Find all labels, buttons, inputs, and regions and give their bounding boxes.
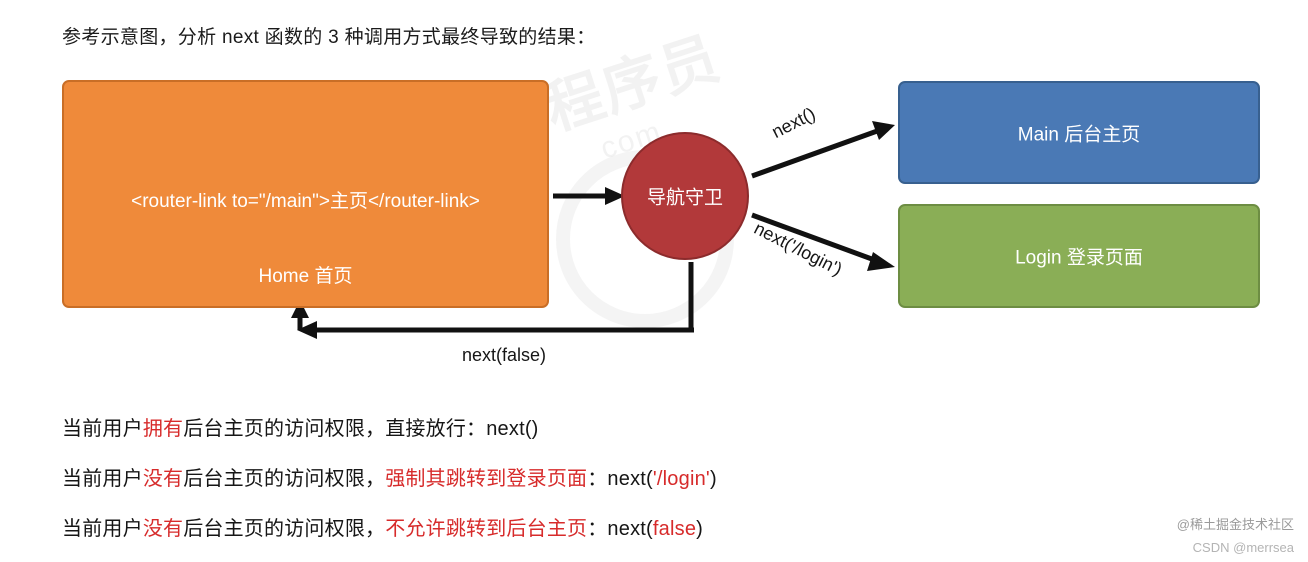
home-box-caption: Home 首页 [64, 261, 547, 288]
explanation-segment: ：next( [587, 518, 653, 540]
explanation-segment: 后台主页的访问权限， [183, 468, 385, 490]
explanation-segment: 当前用户 [62, 418, 143, 440]
explanation-segment: ：next( [587, 468, 653, 490]
explanation-segment: 当前用户 [62, 518, 143, 540]
main-box: Main 后台主页 [898, 81, 1260, 184]
arrow-label-next-false: next(false) [462, 345, 546, 366]
main-box-label: Main 后台主页 [900, 119, 1258, 146]
explanation-line: 当前用户拥有后台主页的访问权限，直接放行：next() [62, 412, 1212, 441]
explanation-segment: ) [710, 468, 717, 490]
arrow-label-next-login: next('/login') [750, 218, 845, 280]
explanation-line: 当前用户没有后台主页的访问权限，不允许跳转到后台主页：next(false) [62, 512, 1212, 541]
explanation-segment: 当前用户 [62, 468, 143, 490]
explanation-segment: 后台主页的访问权限，直接放行：next() [183, 418, 538, 440]
login-box-label: Login 登录页面 [900, 243, 1258, 270]
home-box-code: <router-link to="/main">主页</router-link> [64, 186, 547, 213]
explanation-segment: false [653, 518, 696, 540]
navigation-guard-node: 导航守卫 [621, 132, 749, 260]
explanation-segment: 拥有 [143, 418, 183, 440]
explanation-segment: 没有 [143, 518, 183, 540]
navigation-guard-label: 导航守卫 [623, 183, 747, 210]
explanation-segment: 不允许跳转到后台主页 [385, 518, 587, 540]
watermark-big-line2: com [597, 45, 883, 167]
explanation-segment: ) [696, 518, 703, 540]
arrow-label-next: next() [768, 103, 819, 143]
explanation-list: 当前用户拥有后台主页的访问权限，直接放行：next() 当前用户没有后台主页的访… [62, 412, 1212, 562]
explanation-segment: 后台主页的访问权限， [183, 518, 385, 540]
explanation-segment: 强制其跳转到登录页面 [385, 468, 587, 490]
explanation-segment: '/login' [653, 468, 710, 490]
login-box: Login 登录页面 [898, 204, 1260, 308]
explanation-line: 当前用户没有后台主页的访问权限，强制其跳转到登录页面：next('/login'… [62, 462, 1212, 491]
home-box: <router-link to="/main">主页</router-link>… [62, 80, 549, 308]
page-title: 参考示意图，分析 next 函数的 3 种调用方式最终导致的结果： [62, 22, 596, 49]
explanation-segment: 没有 [143, 468, 183, 490]
